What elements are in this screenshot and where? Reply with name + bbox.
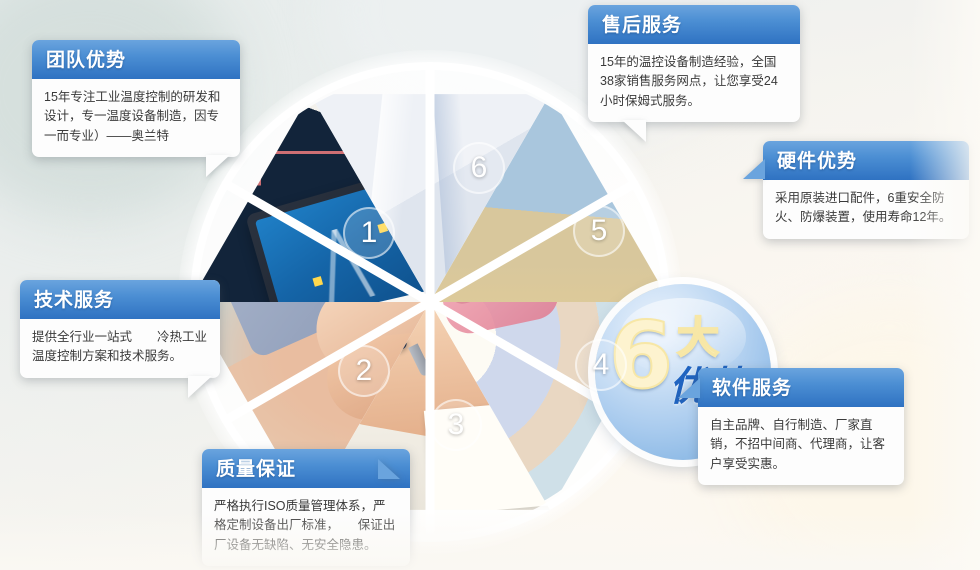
callout-hardware[interactable]: 硬件优势 采用原装进口配件，6重安全防火、防爆装置，使用寿命12年。 xyxy=(763,141,969,239)
callout-body: 采用原装进口配件，6重安全防火、防爆装置，使用寿命12年。 xyxy=(763,180,969,239)
callout-team[interactable]: 团队优势 15年专注工业温度控制的研发和设计，专一温度设备制造，因专一而专业）—… xyxy=(32,40,240,157)
callout-title: 技术服务 xyxy=(20,280,220,319)
callout-tail xyxy=(206,155,230,177)
callout-technical[interactable]: 技术服务 提供全行业一站式 冷热工业温度控制方案和技术服务。 xyxy=(20,280,220,378)
callout-title: 软件服务 xyxy=(698,368,904,407)
callout-quality[interactable]: 质量保证 严格执行ISO质量管理体系，严格定制设备出厂标准， 保证出厂设备无缺陷… xyxy=(202,449,410,566)
callout-tail xyxy=(678,378,700,398)
segment-badge-3[interactable]: 3 xyxy=(430,399,482,451)
callout-body: 严格执行ISO质量管理体系，严格定制设备出厂标准， 保证出厂设备无缺陷、无安全隐… xyxy=(202,488,410,566)
callout-title: 硬件优势 xyxy=(763,141,969,180)
badge-label: 1 xyxy=(361,218,378,248)
callout-tail xyxy=(188,376,212,398)
pen-tip xyxy=(408,343,432,377)
badge-label: 6 xyxy=(471,153,488,183)
callout-tail xyxy=(743,159,765,179)
segment-badge-4[interactable]: 4 xyxy=(575,339,627,391)
callout-software[interactable]: 软件服务 自主品牌、自行制造、厂家直销，不招中间商、代理商，让客户享受实惠。 xyxy=(698,368,904,485)
callout-after-sales[interactable]: 售后服务 15年的温控设备制造经验，全国38家销售服务网点，让您享受24小时保姆… xyxy=(588,5,800,122)
infographic-canvas: 6 大 优势 1 2 3 4 5 6 团队优势 15年专注工业温度控制的研发和设… xyxy=(0,0,980,570)
callout-body: 15年专注工业温度控制的研发和设计，专一温度设备制造，因专一而专业）——奥兰特 xyxy=(32,79,240,157)
callout-tail xyxy=(378,459,400,479)
badge-label: 2 xyxy=(356,356,373,386)
right-fade xyxy=(910,0,980,570)
callout-body: 提供全行业一站式 冷热工业温度控制方案和技术服务。 xyxy=(20,319,220,378)
callout-title: 售后服务 xyxy=(588,5,800,44)
segment-badge-5[interactable]: 5 xyxy=(573,205,625,257)
callout-tail xyxy=(622,120,646,142)
segment-badge-6[interactable]: 6 xyxy=(453,142,505,194)
segment-badge-2[interactable]: 2 xyxy=(338,345,390,397)
callout-title: 团队优势 xyxy=(32,40,240,79)
callout-body: 自主品牌、自行制造、厂家直销，不招中间商、代理商，让客户享受实惠。 xyxy=(698,407,904,485)
callout-body: 15年的温控设备制造经验，全国38家销售服务网点，让您享受24小时保姆式服务。 xyxy=(588,44,800,122)
badge-label: 5 xyxy=(591,216,608,246)
badge-label: 3 xyxy=(448,410,465,440)
badge-label: 4 xyxy=(593,350,610,380)
segment-badge-1[interactable]: 1 xyxy=(343,207,395,259)
tablet-marker-2 xyxy=(312,276,323,287)
